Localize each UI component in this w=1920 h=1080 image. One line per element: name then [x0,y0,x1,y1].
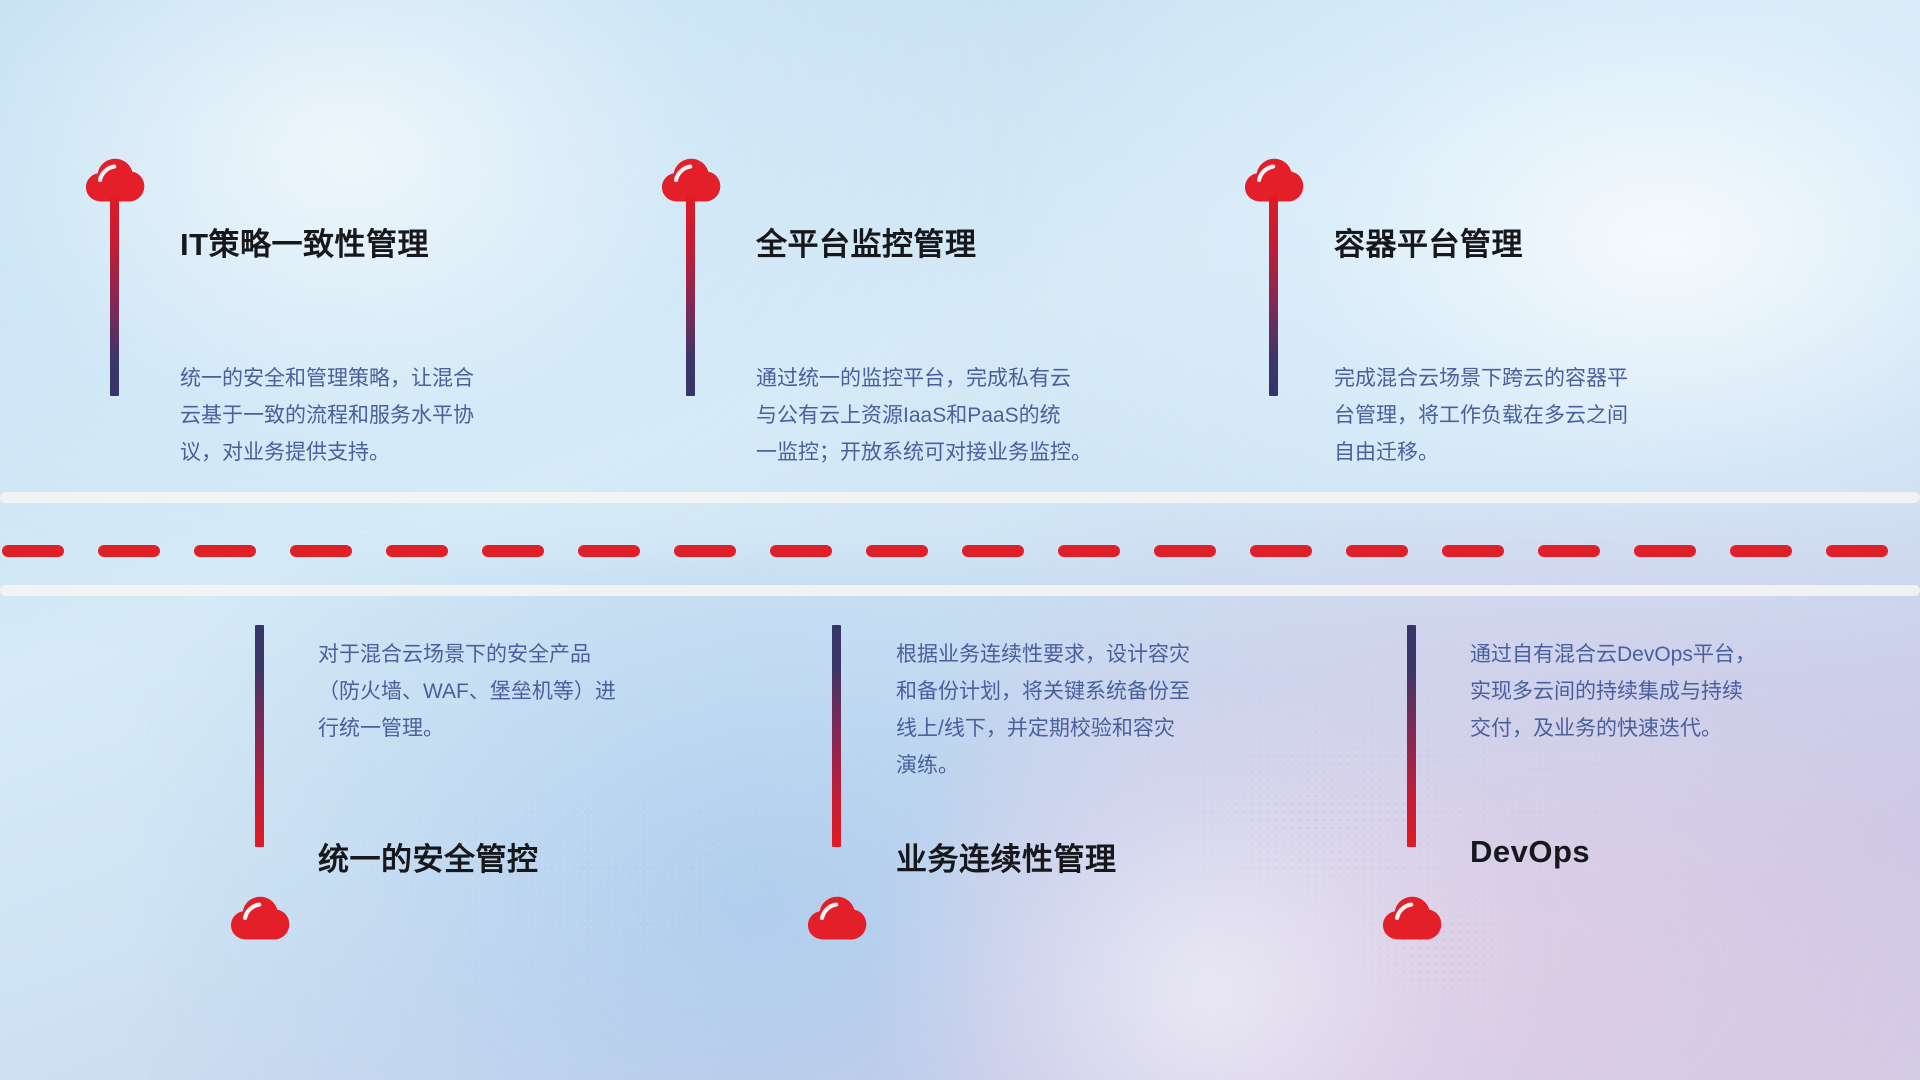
connector-stem [1269,196,1278,396]
item-body-line: 完成混合云场景下跨云的容器平 [1334,360,1694,397]
item-body-text: 完成混合云场景下跨云的容器平 台管理，将工作负载在多云之间 自由迁移。 [1334,360,1694,471]
cloud-icon [229,896,291,940]
road-dash-segment [1346,545,1408,557]
item-body-line: 行统一管理。 [318,710,678,747]
road-dash-segment [1250,545,1312,557]
road-dash-segment [386,545,448,557]
road-edge-line-bottom [0,585,1920,596]
item-body-line: 实现多云间的持续集成与持续 [1470,673,1830,710]
item-body-line: 和备份计划，将关键系统备份至 [896,673,1256,710]
road-dash-segment [1634,545,1696,557]
item-body-line: 与公有云上资源IaaS和PaaS的统 [756,397,1136,434]
road-dash-segment [290,545,352,557]
cloud-icon [1381,896,1443,940]
road-dash-segment [962,545,1024,557]
item-heading: 容器平台管理 [1334,219,1523,264]
item-body-text: 通过自有混合云DevOps平台， 实现多云间的持续集成与持续 交付，及业务的快速… [1470,636,1830,747]
item-body-text: 对于混合云场景下的安全产品 （防火墙、WAF、堡垒机等）进 行统一管理。 [318,636,678,747]
road-dash-segment [866,545,928,557]
infographic-canvas: IT策略一致性管理 统一的安全和管理策略，让混合 云基于一致的流程和服务水平协 … [0,0,1920,1080]
item-heading: IT策略一致性管理 [180,219,429,264]
road-edge-line-top [0,492,1920,503]
connector-stem [686,196,695,396]
road-dash-segment [2,545,64,557]
connector-stem [832,625,841,847]
item-body-text: 统一的安全和管理策略，让混合 云基于一致的流程和服务水平协 议，对业务提供支持。 [180,360,540,471]
road-center-dashed-line [0,545,1920,557]
item-body-line: 一监控；开放系统可对接业务监控。 [756,434,1136,471]
item-body-line: 议，对业务提供支持。 [180,434,540,471]
item-body-line: 统一的安全和管理策略，让混合 [180,360,540,397]
item-body-line: 自由迁移。 [1334,434,1694,471]
item-body-line: 根据业务连续性要求，设计容灾 [896,636,1256,673]
road-dash-segment [1538,545,1600,557]
road-dash-segment [578,545,640,557]
item-body-text: 通过统一的监控平台，完成私有云 与公有云上资源IaaS和PaaS的统 一监控；开… [756,360,1136,471]
road-dash-segment [1730,545,1792,557]
item-heading: 业务连续性管理 [896,834,1117,879]
item-body-line: 交付，及业务的快速迭代。 [1470,710,1830,747]
item-body-line: 通过自有混合云DevOps平台， [1470,636,1830,673]
item-body-text: 根据业务连续性要求，设计容灾 和备份计划，将关键系统备份至 线上/线下，并定期校… [896,636,1256,784]
item-body-line: （防火墙、WAF、堡垒机等）进 [318,673,678,710]
road-dash-segment [482,545,544,557]
road-dash-segment [1154,545,1216,557]
item-heading: DevOps [1470,834,1590,870]
item-body-line: 通过统一的监控平台，完成私有云 [756,360,1136,397]
road-dash-segment [1826,545,1888,557]
road-dash-segment [1442,545,1504,557]
road-dash-segment [194,545,256,557]
item-body-line: 对于混合云场景下的安全产品 [318,636,678,673]
item-heading: 统一的安全管控 [318,834,539,879]
road-dash-segment [770,545,832,557]
road-dash-segment [674,545,736,557]
item-body-line: 台管理，将工作负载在多云之间 [1334,397,1694,434]
item-body-line: 云基于一致的流程和服务水平协 [180,397,540,434]
item-body-line: 线上/线下，并定期校验和容灾 [896,710,1256,747]
connector-stem [110,196,119,396]
item-heading: 全平台监控管理 [756,219,977,264]
connector-stem [255,625,264,847]
road-dash-segment [1058,545,1120,557]
connector-stem [1407,625,1416,847]
cloud-icon [806,896,868,940]
item-body-line: 演练。 [896,747,1256,784]
road-dash-segment [98,545,160,557]
